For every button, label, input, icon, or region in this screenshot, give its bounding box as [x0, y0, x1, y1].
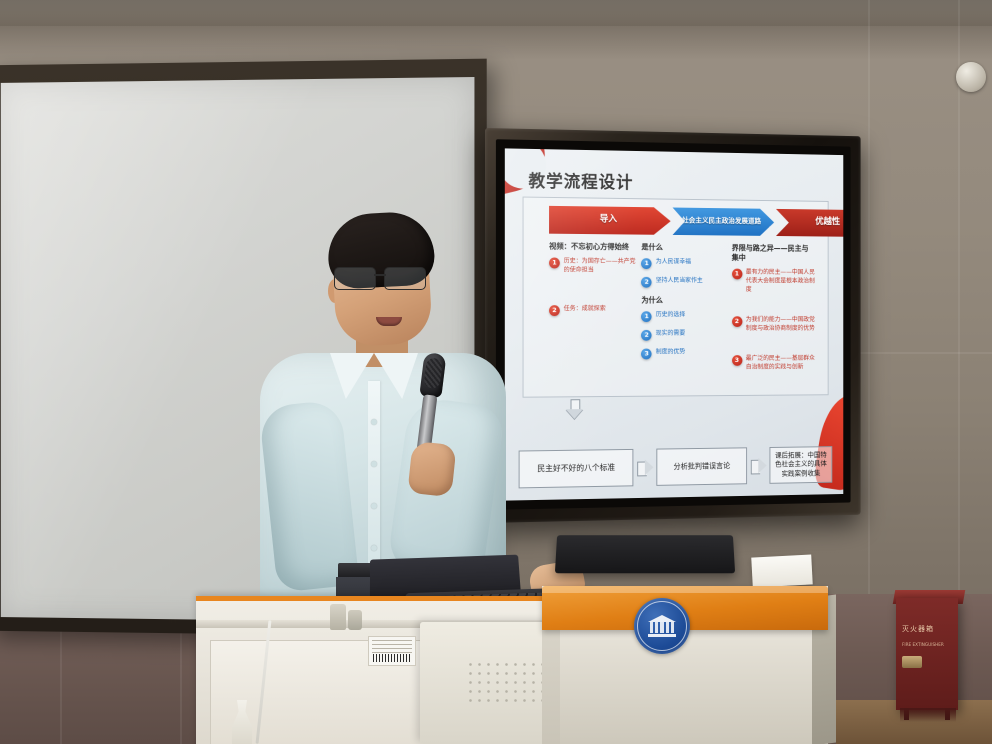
- slide-column-1: 视频：不忘初心方得始终 1 历史：为国存亡——共产党的使命担当 2 任务：成就探…: [549, 242, 636, 391]
- microphone-mesh: [423, 357, 443, 389]
- podium-papers: [751, 554, 812, 587]
- chevron-step-2: 社会主义民主政治发展道路: [673, 208, 775, 236]
- glasses-icon: [332, 267, 432, 289]
- process-chevron-row: 导入 社会主义民主政治发展道路 优越性: [549, 206, 815, 238]
- slide-column-3: 界限与路之异——民主与集中 1 最有力的民主——中国人民代表大会制度是根本政治制…: [732, 243, 815, 389]
- list-item: 1 历史：为国存亡——共产党的使命担当: [549, 258, 636, 276]
- presenter-hand-holding-mic: [407, 441, 456, 497]
- flow-box-2: 分析批判错误言论: [656, 447, 747, 486]
- bullet-number: 3: [641, 349, 652, 360]
- slide-main-box: 导入 社会主义民主政治发展道路 优越性 视频：不忘初心方得始终 1 历史：为国存…: [523, 197, 829, 398]
- chevron-step-1: 导入: [549, 206, 671, 235]
- spacer: [549, 283, 636, 305]
- column-2-heading-2: 为什么: [641, 296, 726, 306]
- slide-columns: 视频：不忘初心方得始终 1 历史：为国存亡——共产党的使命担当 2 任务：成就探…: [549, 242, 815, 391]
- crest-building-graphic: [647, 615, 677, 637]
- bullet-text: 历史：为国存亡——共产党的使命担当: [564, 258, 636, 276]
- bullet-text: 最广泛的民主——基层群众自治制度的实践与创新: [746, 355, 815, 373]
- bullet-number: 3: [732, 355, 742, 366]
- list-item: 3 制度的优势: [641, 349, 726, 360]
- wall-top-shadow: [0, 0, 992, 60]
- list-item: 1 历史的选择: [641, 311, 726, 322]
- fire-cabinet-label: 灭火器箱: [902, 624, 954, 635]
- flow-box-3: 课后拓展：中国特色社会主义的具体实践案例收集: [769, 446, 832, 484]
- shirt-button: [371, 419, 377, 425]
- flow-down-arrow-icon: [566, 399, 584, 419]
- fire-cabinet-sublabel: FIRE EXTINGUISHER: [902, 642, 954, 648]
- fire-cabinet-handle[interactable]: [902, 656, 922, 668]
- bullet-text: 历史的选择: [656, 312, 685, 321]
- slide-column-2: 是什么 1 为人民谋幸福 2 坚持人民当家作主 为什么 1 历史的选择: [641, 242, 726, 389]
- chevron-step-3: 优越性: [776, 209, 843, 237]
- crest-base: [648, 634, 676, 637]
- bullet-number: 1: [641, 311, 652, 322]
- display-screen[interactable]: 教学流程设计 导入 社会主义民主政治发展道路 优越性 视频：不忘初心方得始终 1…: [485, 128, 861, 523]
- bullet-text: 现实的需要: [656, 330, 685, 339]
- slide-content: 教学流程设计 导入 社会主义民主政治发展道路 优越性 视频：不忘初心方得始终 1…: [505, 148, 843, 500]
- crest-columns: [650, 622, 674, 633]
- bullet-text: 任务：成就探索: [564, 305, 606, 314]
- flow-arrow-right-icon: [751, 459, 766, 472]
- bullet-number: 2: [549, 305, 560, 316]
- barcode-icon: [373, 654, 411, 662]
- bullet-text: 为我们的能力——中国政党制度与政治协商制度的优势: [746, 316, 815, 333]
- column-1-heading: 视频：不忘初心方得始终: [549, 242, 636, 253]
- list-item: 3 最广泛的民主——基层群众自治制度的实践与创新: [732, 355, 815, 373]
- shirt-button: [371, 461, 377, 467]
- flow-arrow-right-icon: [637, 461, 652, 474]
- column-2-heading: 是什么: [641, 242, 726, 253]
- bullet-text: 制度的优势: [656, 349, 685, 358]
- podium-monitor[interactable]: [555, 535, 735, 573]
- bottle: [330, 604, 346, 630]
- flow-box-1: 民主好不好的八个标准: [519, 449, 634, 488]
- list-item: 2 为我们的能力——中国政党制度与政治协商制度的优势: [732, 316, 815, 333]
- shirt-button: [371, 503, 377, 509]
- podium-body: [560, 626, 812, 744]
- shirt-placket: [368, 381, 380, 581]
- bullet-text: 最有力的民主——中国人民代表大会制度是根本政治制度: [746, 269, 815, 295]
- slide-title: 教学流程设计: [528, 167, 633, 193]
- flow-row: 民主好不好的八个标准 分析批判错误言论 课后拓展：中国特色社会主义的具体实践案例…: [519, 446, 833, 488]
- bullet-number: 2: [641, 330, 652, 341]
- asset-label: [368, 636, 416, 666]
- bullet-number: 1: [641, 258, 652, 269]
- ceiling-sensor-icon: [956, 62, 986, 92]
- spacer: [732, 303, 815, 317]
- bullet-text: 坚持人民当家作主: [656, 277, 703, 286]
- classroom-photo-scene: 教学流程设计 导入 社会主义民主政治发展道路 优越性 视频：不忘初心方得始终 1…: [0, 0, 992, 744]
- glasses-bridge: [374, 274, 386, 276]
- glasses-lens-right: [384, 267, 426, 290]
- cabinet-vent-grille: [466, 660, 544, 706]
- column-3-heading: 界限与路之异——民主与集中: [732, 243, 815, 263]
- list-item: 2 坚持人民当家作主: [641, 277, 726, 288]
- spacer: [732, 342, 815, 356]
- bullet-text: 为人民谋幸福: [656, 258, 691, 267]
- podium-top-highlight: [542, 586, 828, 593]
- bullet-number: 1: [732, 269, 742, 280]
- bullet-number: 2: [732, 316, 742, 327]
- list-item: 1 最有力的民主——中国人民代表大会制度是根本政治制度: [732, 269, 815, 296]
- asset-label-text-lines: [372, 640, 412, 654]
- bullet-number: 1: [549, 258, 560, 269]
- crest-roof: [648, 615, 676, 622]
- list-item: 2 任务：成就探索: [549, 305, 636, 316]
- shirt-button: [371, 545, 377, 551]
- bottle: [348, 610, 362, 630]
- fire-extinguisher-cabinet[interactable]: 灭火器箱 FIRE EXTINGUISHER: [896, 598, 958, 710]
- list-item: 1 为人民谋幸福: [641, 258, 726, 269]
- university-crest-icon: [634, 598, 690, 654]
- fire-cabinet-shadow: [900, 708, 956, 722]
- list-item: 2 现实的需要: [641, 330, 726, 341]
- bullet-number: 2: [641, 277, 652, 288]
- glasses-lens-left: [334, 267, 376, 290]
